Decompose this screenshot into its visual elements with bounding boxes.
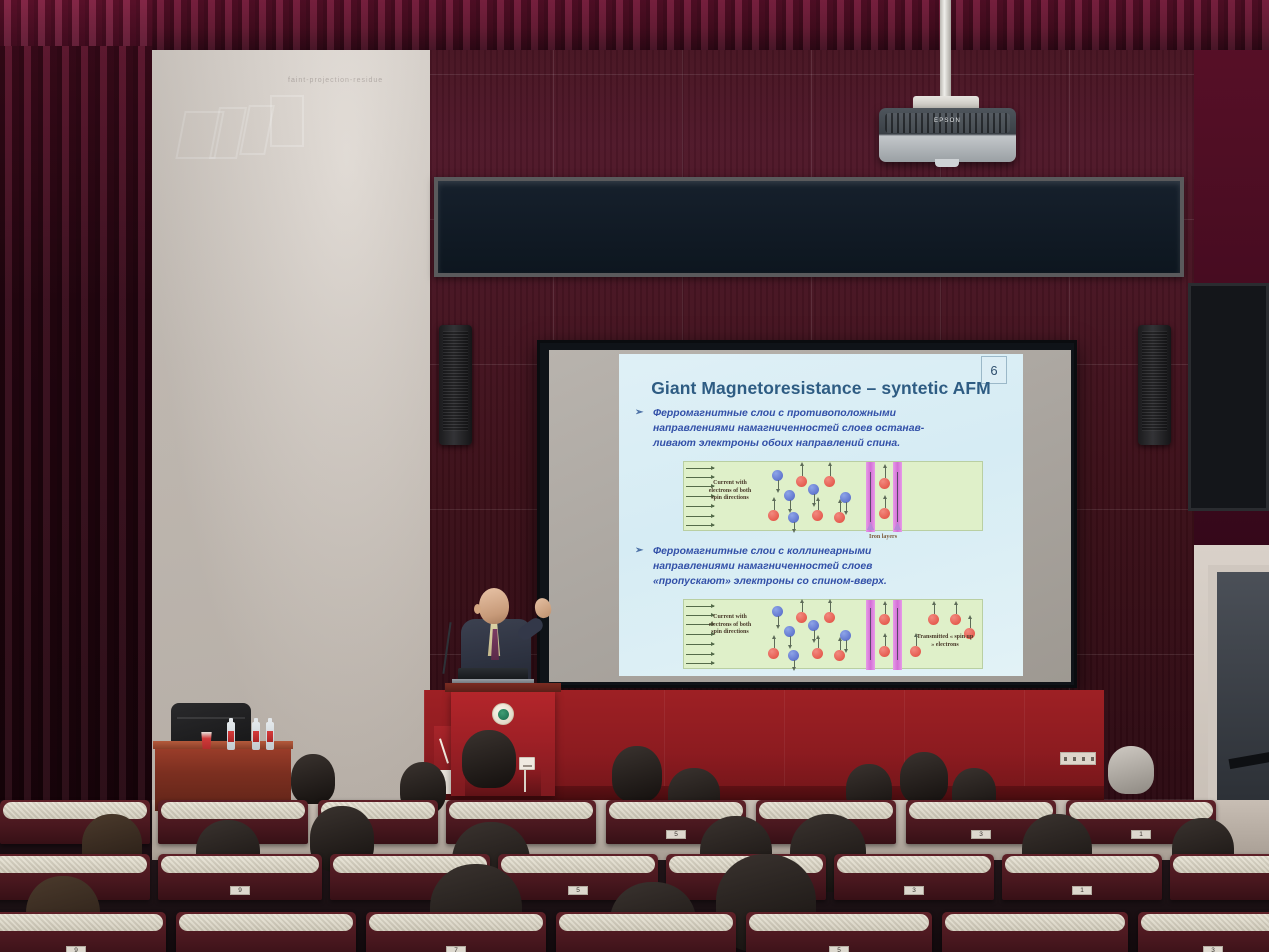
current-caption-bottom: Current with electrons of both spin dire… <box>704 614 756 637</box>
electron-spin-up <box>768 510 779 521</box>
seat-cushion <box>449 802 593 819</box>
spin-arrow-up <box>885 498 886 508</box>
spin-arrow-up <box>802 465 803 476</box>
seat-number: 5 <box>666 830 686 839</box>
right-line-array-speaker <box>1138 325 1171 445</box>
seat-number: 7 <box>446 946 466 952</box>
spin-arrow-up <box>830 602 831 612</box>
current-arrow <box>686 654 714 655</box>
seat-number: 5 <box>829 946 849 952</box>
spin-arrow-up <box>956 604 957 614</box>
bullet-line: «пропускают» электроны со спином-вверх. <box>653 574 1011 589</box>
current-arrow <box>686 516 714 517</box>
bullet-arrow-icon: ➢ <box>635 544 643 559</box>
electron-spin-up <box>824 612 835 623</box>
spin-arrow-up <box>830 465 831 476</box>
seat[interactable]: 9 <box>0 912 166 952</box>
side-doorway <box>1208 565 1269 805</box>
seat-cushion <box>0 856 147 873</box>
spin-arrow-up <box>934 604 935 614</box>
stage-curtain-left-valance <box>0 0 152 46</box>
audience-head <box>291 754 335 804</box>
led-banner-display <box>434 177 1184 277</box>
seat-cushion <box>501 856 655 873</box>
spin-arrow-down <box>790 636 791 646</box>
projector-mount-pole <box>940 0 951 100</box>
electron-spin-up <box>812 510 823 521</box>
electron-spin-up <box>768 648 779 659</box>
current-caption-top: Current with electrons of both spin dire… <box>704 480 756 503</box>
seat-number: 3 <box>904 886 924 895</box>
bullet-line: Ферромагнитные слои с противоположными <box>653 406 1011 421</box>
seat-cushion <box>945 914 1125 931</box>
seat[interactable]: 3 <box>1138 912 1269 952</box>
bullet-arrow-icon: ➢ <box>635 406 643 421</box>
wall-ghost-label: faint-projection-residue <box>288 77 383 84</box>
spin-arrow-up <box>885 636 886 646</box>
projector-brand-label: EPSON <box>934 118 961 124</box>
spin-arrow-up <box>802 602 803 612</box>
gmr-diagram-antiparallel: Current with electrons of both spin dire… <box>683 461 983 531</box>
electron-spin-up <box>879 508 890 519</box>
electron-spin-up <box>834 512 845 523</box>
ceiling-projector: EPSON <box>879 108 1016 162</box>
seat-cushion <box>0 914 163 931</box>
seat[interactable] <box>556 912 736 952</box>
spin-arrow-up <box>774 638 775 648</box>
right-wall-display-panel <box>1188 283 1269 511</box>
wall-ghost-mark <box>270 95 304 147</box>
iron-layers-label: Iron layers <box>869 534 897 540</box>
slide-bullet-1: ➢ Ферромагнитные слои с противоположными… <box>635 406 1011 451</box>
seat-number: 5 <box>568 886 588 895</box>
spin-arrow-up <box>885 467 886 478</box>
spin-arrow-up <box>840 640 841 650</box>
seat[interactable]: 5 <box>746 912 932 952</box>
seat-cushion <box>1141 914 1269 931</box>
seat[interactable]: 9 <box>158 854 322 900</box>
current-arrow <box>686 525 714 526</box>
bullet-line: Ферромагнитные слои с коллинеарными <box>653 544 1011 559</box>
stage-power-outlet <box>519 757 535 770</box>
water-bottle <box>252 722 260 750</box>
seat-number: 1 <box>1131 830 1151 839</box>
current-arrow <box>686 468 714 469</box>
spin-arrow-down <box>846 640 847 650</box>
doorway-interior-object <box>1228 751 1269 769</box>
wall-ghost-mark <box>175 111 224 159</box>
seat-cushion <box>609 802 743 819</box>
electron-spin-up <box>812 648 823 659</box>
gmr-diagram-parallel: Current with electrons of both spin dire… <box>683 599 983 669</box>
iron-magnetization-arrow <box>870 608 871 660</box>
wall-switch-panel <box>1060 752 1096 765</box>
stage-curtain-top <box>0 0 1269 50</box>
electron-spin-up <box>824 476 835 487</box>
university-crest-emblem <box>492 703 514 725</box>
seat[interactable]: 1 <box>1002 854 1162 900</box>
slide-bullet-2: ➢ Ферромагнитные слои с коллинеарными на… <box>635 544 1011 589</box>
presenter-hand <box>533 597 553 620</box>
seat-cushion <box>161 802 305 819</box>
left-line-array-speaker <box>439 325 472 445</box>
bullet-line: направлениями намагниченностей слоев <box>653 559 1011 574</box>
spin-arrow-up <box>818 638 819 648</box>
iron-magnetization-arrow <box>897 472 898 522</box>
seat-cushion <box>1173 856 1269 873</box>
slide-bullet-1-text: Ферромагнитные слои с противоположными н… <box>653 406 1011 451</box>
current-arrow <box>686 477 714 478</box>
spin-arrow-up <box>840 502 841 512</box>
seat-number: 9 <box>66 946 86 952</box>
lecture-hall-scene: faint-projection-residue EPSON 6 Giant M… <box>0 0 1269 952</box>
spin-arrow-down <box>794 522 795 530</box>
seat-cushion <box>559 914 733 931</box>
wall-ghost-mark <box>239 105 275 155</box>
electron-transmitted <box>950 614 961 625</box>
screen-surface: 6 Giant Magnetoresistance – syntetic AFM… <box>549 350 1071 682</box>
spin-arrow-down <box>814 630 815 640</box>
audience-seating: 11 5 3 1 11 9 5 3 1 <box>0 772 1269 952</box>
spin-arrow-down <box>778 480 779 490</box>
poster-leaf-icon <box>439 738 449 763</box>
audience-head <box>462 730 516 788</box>
spin-arrow-down <box>794 660 795 668</box>
transmitted-caption: Transmitted « spin up » electrons <box>916 634 974 650</box>
projector-lens <box>935 159 959 167</box>
iron-magnetization-arrow <box>870 472 871 522</box>
seat-cushion <box>369 914 543 931</box>
spin-arrow-down <box>814 494 815 504</box>
seat[interactable] <box>942 912 1128 952</box>
seat[interactable] <box>1170 854 1269 900</box>
current-arrow <box>686 663 714 664</box>
electron-spin-up <box>879 614 890 625</box>
left-beige-wall: faint-projection-residue <box>152 43 430 803</box>
podium-top-edge <box>445 683 561 692</box>
electron-spin-up <box>796 476 807 487</box>
water-bottle <box>266 722 274 750</box>
wall-ghost-mark <box>209 107 247 159</box>
projected-slide: 6 Giant Magnetoresistance – syntetic AFM… <box>619 354 1023 676</box>
presenter-ear <box>474 604 481 614</box>
seat-cushion <box>837 856 991 873</box>
seat[interactable]: 7 <box>366 912 546 952</box>
spin-arrow-down <box>778 616 779 626</box>
spin-arrow-up <box>885 604 886 614</box>
spin-arrow-down <box>846 502 847 512</box>
seat-number: 1 <box>1072 886 1092 895</box>
electron-spin-up <box>879 478 890 489</box>
seat-number: 3 <box>1203 946 1223 952</box>
stage-curtain-left <box>0 0 152 800</box>
seat-cushion <box>161 856 319 873</box>
seat-cushion <box>1069 802 1213 819</box>
audience-head <box>900 752 948 804</box>
seat-number: 9 <box>230 886 250 895</box>
audience-head-grey <box>1108 746 1154 794</box>
seat[interactable]: 3 <box>834 854 994 900</box>
seat-cushion <box>1005 856 1159 873</box>
seat-cushion <box>909 802 1053 819</box>
bullet-line: ливают электроны обоих направлений спина… <box>653 436 1011 451</box>
spin-arrow-up <box>818 500 819 510</box>
spin-arrow-up <box>774 500 775 510</box>
electron-spin-up <box>834 650 845 661</box>
current-arrow <box>686 506 714 507</box>
electron-transmitted <box>928 614 939 625</box>
slide-title: Giant Magnetoresistance – syntetic AFM <box>619 378 1023 399</box>
slide-bullet-2-text: Ферромагнитные слои с коллинеарными напр… <box>653 544 1011 589</box>
seat-number: 3 <box>971 830 991 839</box>
spin-arrow-down <box>790 500 791 510</box>
presenter-head <box>479 588 509 624</box>
seat-cushion <box>749 914 929 931</box>
current-arrow <box>686 644 714 645</box>
iron-magnetization-arrow <box>897 608 898 660</box>
current-arrow <box>686 606 714 607</box>
bullet-line: направлениями намагниченностей слоев ост… <box>653 421 1011 436</box>
water-bottle <box>227 722 235 750</box>
spin-arrow-up <box>970 618 971 628</box>
seat[interactable] <box>176 912 356 952</box>
electron-spin-up <box>879 646 890 657</box>
seat-cushion <box>179 914 353 931</box>
projection-screen: 6 Giant Magnetoresistance – syntetic AFM… <box>537 340 1077 688</box>
audience-head <box>612 746 662 802</box>
electron-spin-up <box>796 612 807 623</box>
